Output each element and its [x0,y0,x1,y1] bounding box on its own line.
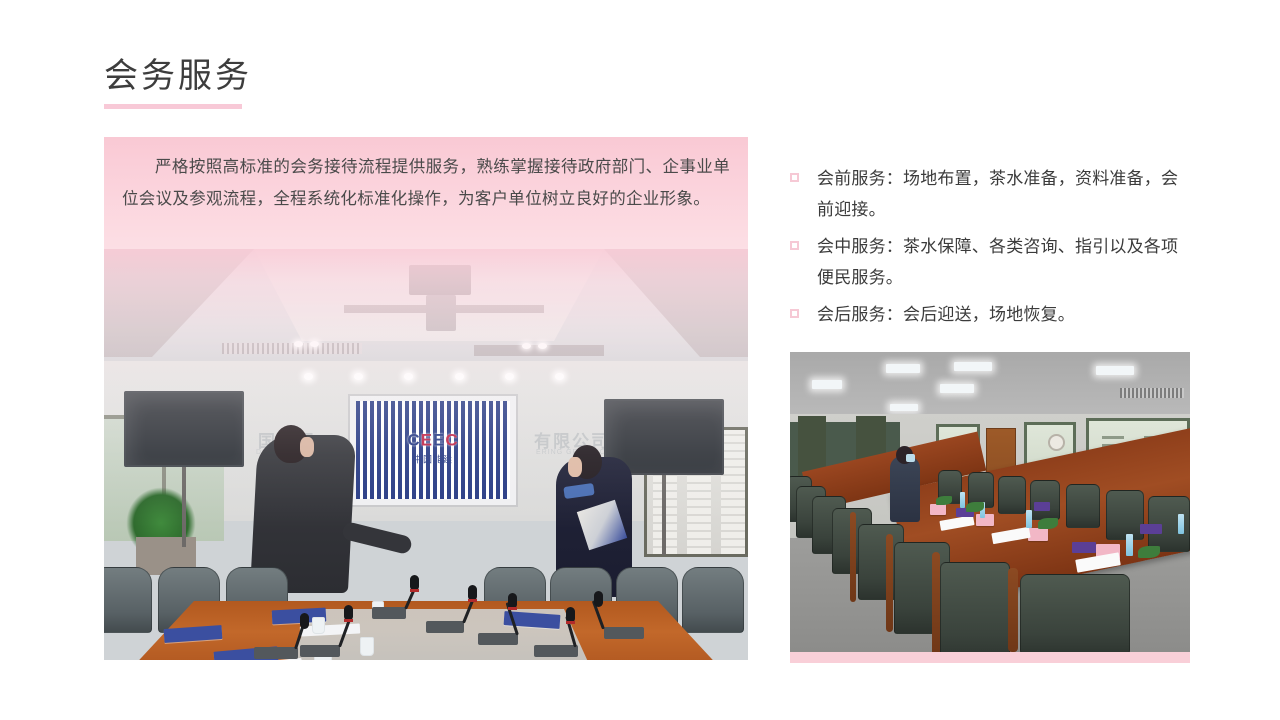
list-item: 会中服务：茶水保障、各类咨询、指引以及各项便民服务。 [790,231,1190,293]
right-column: 会前服务：场地布置，茶水准备，资料准备，会前迎接。 会中服务：茶水保障、各类咨询… [790,163,1190,336]
tv-stand-right [662,475,666,555]
list-item: 会前服务：场地布置，茶水准备，资料准备，会前迎接。 [790,163,1190,225]
tv-stand-left [182,467,186,547]
microphone-base [534,645,578,657]
microphone-ring [468,599,477,602]
service-bullet-list: 会前服务：场地布置，茶水准备，资料准备，会前迎接。 会中服务：茶水保障、各类咨询… [790,163,1190,330]
side-chair-far [1030,480,1060,520]
intro-description-text: 严格按照高标准的会务接待流程提供服务，熟练掌握接待政府部门、企事业单位会议及参观… [122,151,730,215]
ceiling-spot-light-1 [294,341,303,347]
side-ceiling-vent [1120,388,1184,398]
downlight [555,373,564,380]
ceiling-panel-light [890,404,918,411]
water-bottle [1126,534,1133,556]
side-chair-far [1106,490,1144,540]
water-bottle [960,492,965,508]
list-item: 会后服务：会后迎送，场地恢复。 [790,299,1190,330]
side-conference-room-photo [790,352,1190,652]
main-conference-room-photo: CEEC 中国能建 国能源 有限公司 DONG POWER ERING GROU… [104,249,748,660]
microphone-base [426,621,464,633]
place-card [1028,528,1048,541]
service-item-label: 会前服务：场地布置，茶水准备，资料准备，会前迎接。 [817,163,1190,225]
water-bottle [1178,514,1184,534]
downlight [404,373,413,380]
square-outline-bullet-icon [790,309,799,318]
microphone-ring [410,589,419,592]
tissue-box [1140,524,1162,534]
screen-logo-main-text: CEEC [350,431,516,451]
water-bottle [1026,510,1032,528]
ceiling-panel-light [812,380,842,389]
table-greenery [1038,518,1058,529]
service-item-label: 会中服务：茶水保障、各类咨询、指引以及各项便民服务。 [817,231,1190,293]
side-photo-accent-bar [790,652,1190,663]
slide-root: 会务服务 严格按照高标准的会务接待流程提供服务，熟练掌握接待政府部门、企事业单位… [0,0,1280,720]
ceiling-spot-light-4 [538,343,547,349]
table-greenery [966,502,984,512]
microphone-ring [508,607,517,610]
wall-tv-left [124,391,244,467]
side-chair-frame [886,534,893,632]
ceiling-panel-light [886,364,920,373]
ceiling-projector [426,295,456,331]
notice-line [1102,436,1124,439]
conference-chair [682,567,744,633]
intro-description-box: 严格按照高标准的会务接待流程提供服务，熟练掌握接待政府部门、企事业单位会议及参观… [104,137,748,249]
microphone-base [372,607,406,619]
side-chair-far [1066,484,1100,528]
square-outline-bullet-icon [790,173,799,182]
downlight [304,373,313,380]
microphone-base [254,647,298,659]
ceiling-spot-light-3 [522,343,531,349]
screen-logo: CEEC 中国能建 [350,431,516,466]
ceiling-panel-light [940,384,974,393]
side-chair-frame [1008,568,1018,652]
projection-screen: CEEC 中国能建 [348,394,518,507]
side-chair [940,562,1010,652]
water-cup [360,637,374,656]
tissue-box [1072,542,1096,553]
water-cup [312,617,325,634]
side-staff-person [890,456,920,522]
microphone-ring [344,619,353,622]
staff-person-left-face [300,437,314,457]
wall-clock [1048,434,1065,451]
page-title: 会务服务 [104,52,252,100]
side-chair [1020,574,1130,652]
tissue-box [1034,502,1050,511]
microphone-head [594,591,603,607]
place-card [930,504,946,515]
square-outline-bullet-icon [790,241,799,250]
microphone-base [300,645,340,657]
service-item-label: 会后服务：会后迎送，场地恢复。 [817,299,1075,330]
screen-logo-sub-text: 中国能建 [350,453,516,466]
downlight [354,373,363,380]
ceiling-spot-light-2 [310,341,319,347]
downlight [505,373,514,380]
place-card [976,514,994,526]
window-blind-right-3 [721,430,745,554]
downlight-row [304,373,564,381]
microphone-base [604,627,644,639]
downlight [455,373,464,380]
ceiling-panel-light [954,362,992,371]
title-block: 会务服务 [104,52,252,109]
microphone-base [478,633,518,645]
staff-person-left-arm [341,521,413,555]
ceiling-vent-left [222,343,362,354]
projector-mount [409,265,471,295]
side-chair-frame [850,512,856,602]
side-chair-frame [932,552,940,652]
microphone-ring [566,621,575,624]
staff-person-right-face [568,457,582,477]
conference-chair [104,567,152,633]
table-greenery [936,496,952,505]
title-underline-rule [104,104,242,109]
ceiling-panel-light [1096,366,1134,375]
microphone-head [300,613,309,629]
left-column: 严格按照高标准的会务接待流程提供服务，熟练掌握接待政府部门、企事业单位会议及参观… [104,137,748,660]
table-greenery [1138,546,1160,558]
face-mask-icon [906,454,915,462]
side-chair-far [998,476,1026,514]
